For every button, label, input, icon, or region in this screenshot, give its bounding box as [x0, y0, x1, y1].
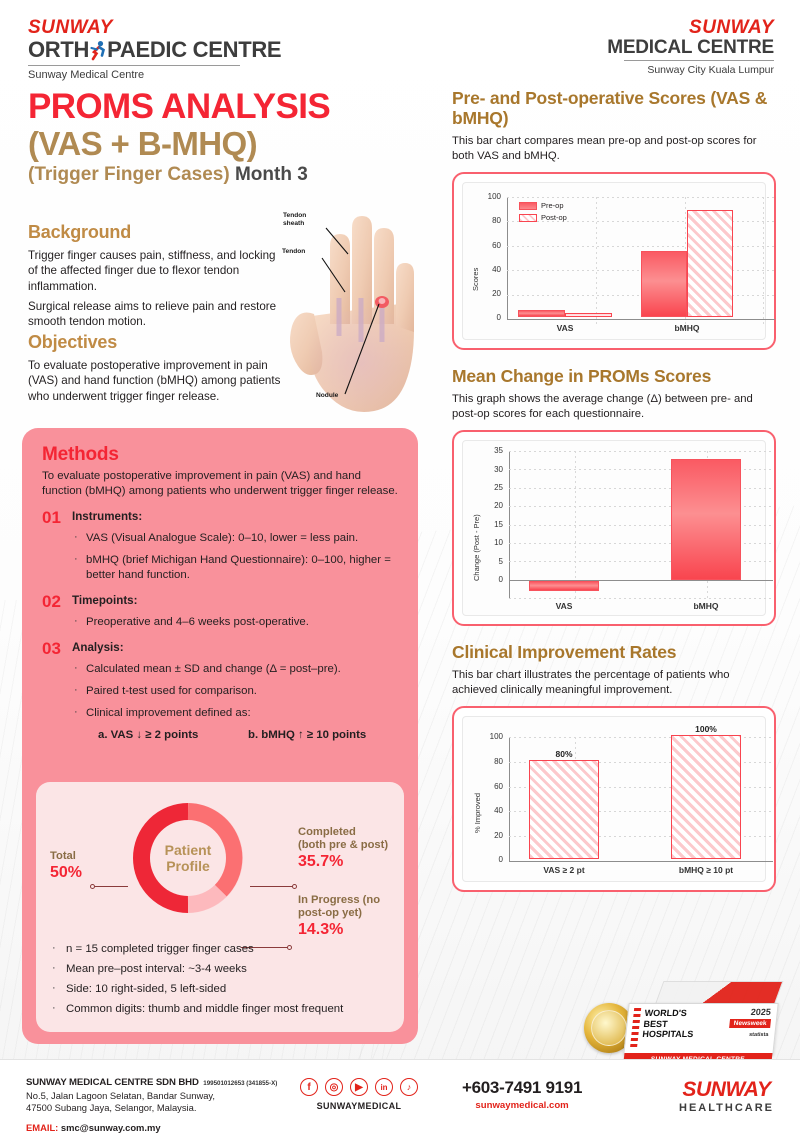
chart3-ytick: 60: [481, 782, 503, 791]
bar-bmhq-preop: [641, 251, 687, 317]
section1-heading: Pre- and Post-operative Scores (VAS & bM…: [452, 88, 776, 128]
title-subject: (Trigger Finger Cases): [28, 164, 230, 185]
chart1-ytick: 60: [479, 241, 501, 250]
chart3-ytick: 100: [481, 732, 503, 741]
chart-mean-change: Change (Post - Pre) 35 30 25: [462, 440, 766, 616]
legend-item-preop: Pre-op: [519, 201, 567, 210]
section2-heading: Mean Change in PROMs Scores: [452, 366, 776, 386]
chart2-ytick: 15: [481, 520, 503, 529]
donut-center-line1: Patient: [165, 842, 212, 858]
sunway-wordmark: SUNWAY: [28, 18, 281, 37]
chart1-ytick: 20: [479, 289, 501, 298]
chart3-x-axis: [509, 861, 773, 862]
methods-heading: Methods: [42, 444, 400, 466]
chart2-ytick: 0: [481, 575, 503, 584]
chart1-ytick: 40: [479, 265, 501, 274]
inprogress-value: 14.3%: [298, 920, 402, 939]
hand-label-tendon: Tendon: [282, 248, 305, 256]
chart2-gridline: [509, 451, 773, 452]
bar-vas-preop: [518, 310, 565, 317]
badge-statista: statista: [749, 1032, 769, 1038]
step-bullet: · VAS (Visual Analogue Scale): 0–10, low…: [72, 531, 400, 546]
bullet-dot-icon: ·: [50, 962, 66, 976]
chart3-ytick: 0: [481, 855, 503, 864]
chart1-vgrid: [596, 197, 597, 325]
section3-description: This bar chart illustrates the percentag…: [452, 668, 776, 697]
running-figure-icon: [88, 39, 108, 61]
bar-label-bmhq: 100%: [671, 724, 741, 734]
bullet-text: Calculated mean ± SD and change (Δ = pos…: [86, 662, 341, 677]
section-mean-change: Mean Change in PROMs Scores This graph s…: [452, 366, 776, 626]
chart1-ytick: 100: [479, 192, 501, 201]
donut-center-label: Patient Profile: [150, 820, 226, 896]
facebook-icon[interactable]: f: [300, 1078, 318, 1096]
donut-label-inprogress: In Progress (nopost-op yet) 14.3%: [298, 894, 402, 939]
list-item: · Mean pre–post interval: ~3-4 weeks: [50, 962, 396, 976]
chart-card-mean-change: Change (Post - Pre) 35 30 25: [452, 430, 776, 626]
donut-label-completed: Completed(both pre & post) 35.7%: [298, 826, 402, 871]
bullet-text: bMHQ (brief Michigan Hand Questionnaire)…: [86, 553, 400, 583]
ortho-text-part1: ORTH: [28, 37, 89, 63]
hand-label-tendon-sheath: Tendonsheath: [283, 212, 306, 228]
donut-label-total: Total 50%: [50, 850, 82, 882]
footer-company-name: SUNWAY MEDICAL CENTRE SDN BHD: [26, 1077, 199, 1088]
ortho-text-part2: PAEDIC CENTRE: [107, 37, 281, 63]
fact-text: Side: 10 right-sided, 5 left-sided: [66, 982, 226, 996]
donut-center-line2: Profile: [166, 858, 210, 874]
chart2-ytick: 20: [481, 501, 503, 510]
bullet-dot-icon: ·: [72, 531, 86, 546]
chart2-vgrid: [575, 451, 576, 601]
objectives-heading: Objectives: [28, 332, 298, 353]
bullet-dot-icon: ·: [50, 1002, 66, 1016]
title-line-2: (VAS + B-MHQ): [28, 126, 330, 162]
badge-red-strip: [630, 1008, 641, 1050]
objectives-section: Objectives To evaluate postoperative imp…: [28, 332, 298, 404]
footer-registration-no: 199501012653 (341855-X): [203, 1080, 277, 1087]
chart-pre-post-scores: Scores 100 80 60 40 20 0: [462, 182, 766, 340]
chart1-x-axis: [507, 319, 775, 320]
chart2-xtick: VAS: [533, 601, 595, 611]
chart1-vgrid: [763, 197, 764, 325]
bullet-dot-icon: ·: [50, 942, 66, 956]
completed-label: Completed(both pre & post): [298, 826, 402, 852]
list-item: · n = 15 completed trigger finger cases: [50, 942, 396, 956]
section-pre-post-scores: Pre- and Post-operative Scores (VAS & bM…: [452, 88, 776, 350]
orthopaedic-centre-logo: SUNWAY ORTH PAEDIC CENTRE Sunway Medical…: [28, 18, 281, 81]
orthopaedic-logo-subtitle: Sunway Medical Centre: [28, 69, 281, 81]
completed-value: 35.7%: [298, 852, 402, 871]
hand-anatomy-illustration: Tendonsheath Tendon Nodule: [282, 196, 432, 421]
chart3-ytick: 20: [481, 831, 503, 840]
chart2-ytick: 35: [481, 446, 503, 455]
chart1-y-axis: [507, 197, 508, 319]
step-number: 03: [42, 641, 72, 741]
fact-text: n = 15 completed trigger finger cases: [66, 942, 254, 956]
chart2-y-axis-title: Change (Post - Pre): [472, 514, 481, 581]
page-title: PROMS ANALYSIS (VAS + B-MHQ) (Trigger Fi…: [28, 88, 330, 188]
title-month: Month 3: [235, 164, 308, 185]
chart1-legend: Pre-op Post-op: [519, 201, 567, 225]
chart3-xtick: bMHQ ≥ 10 pt: [663, 865, 749, 875]
criteria-vas: a. VAS ↓ ≥ 2 points: [98, 729, 248, 741]
step-title: Timepoints:: [72, 594, 400, 608]
bullet-dot-icon: ·: [72, 553, 86, 583]
medical-centre-name: MEDICAL CENTRE: [607, 37, 774, 58]
criteria-bmhq: b. bMHQ ↑ ≥ 10 points: [248, 729, 366, 741]
footer-social-block: f ◎ ▶ in ♪ SUNWAYMEDICAL: [300, 1078, 418, 1111]
inprogress-label: In Progress (nopost-op yet): [298, 894, 402, 920]
chart1-gridline: [507, 197, 775, 198]
social-icon-row: f ◎ ▶ in ♪: [300, 1078, 418, 1096]
footer-email-line[interactable]: EMAIL: smc@sunway.com.my: [26, 1122, 277, 1133]
chart3-y-axis: [509, 737, 510, 861]
chart3-ytick: 80: [481, 757, 503, 766]
leader-line-completed: [250, 886, 294, 887]
chart3-xtick: VAS ≥ 2 pt: [525, 865, 603, 875]
social-handle: SUNWAYMEDICAL: [300, 1101, 418, 1111]
page-footer: SUNWAY MEDICAL CENTRE SDN BHD 1995010126…: [0, 1059, 800, 1131]
section3-heading: Clinical Improvement Rates: [452, 642, 776, 662]
list-item: · Side: 10 right-sided, 5 left-sided: [50, 982, 396, 996]
step-bullet: · Paired t-test used for comparison.: [72, 684, 400, 699]
sunway-healthcare-logo: SUNWAY HEALTHCARE: [679, 1078, 774, 1114]
legend-item-postop: Post-op: [519, 213, 567, 222]
chart3-ytick: 40: [481, 806, 503, 815]
chart2-ytick: 25: [481, 483, 503, 492]
fact-text: Mean pre–post interval: ~3-4 weeks: [66, 962, 247, 976]
awards-badges: WORLD'SBESTHOSPITALS 2025 Newsweek stati…: [584, 981, 784, 1059]
badge-title: WORLD'SBESTHOSPITALS: [642, 1008, 696, 1040]
chart2-ytick: 5: [481, 557, 503, 566]
leader-dot-total: [90, 884, 95, 889]
bullet-dot-icon: ·: [72, 684, 86, 699]
step-bullet: · Clinical improvement defined as:: [72, 706, 400, 721]
background-paragraph-1: Trigger finger causes pain, stiffness, a…: [28, 248, 280, 294]
chart-clinical-improvement: % Improved 100 80 60 40 20 0: [462, 716, 766, 882]
medical-centre-logo: SUNWAY MEDICAL CENTRE Sunway City Kuala …: [607, 18, 774, 76]
total-value: 50%: [50, 863, 82, 882]
footer-phone-number[interactable]: +603-7491 9191: [462, 1078, 582, 1098]
chart2-ytick: 10: [481, 538, 503, 547]
bullet-text: Preoperative and 4–6 weeks post-operativ…: [86, 615, 309, 630]
orthopaedic-centre-name: ORTH PAEDIC CENTRE: [28, 37, 281, 63]
chart1-ytick: 0: [479, 313, 501, 322]
chart2-ytick: 30: [481, 465, 503, 474]
legend-label-postop: Post-op: [541, 213, 567, 222]
footer-contact-block: +603-7491 9191 sunwaymedical.com: [462, 1078, 582, 1111]
chart1-gridline: [507, 246, 775, 247]
linkedin-icon[interactable]: in: [375, 1078, 393, 1096]
bar-label-vas: 80%: [529, 749, 599, 759]
background-heading: Background: [28, 222, 280, 243]
bullet-dot-icon: ·: [72, 662, 86, 677]
footer-company-line: SUNWAY MEDICAL CENTRE SDN BHD 1995010126…: [26, 1072, 277, 1090]
bullet-text: Paired t-test used for comparison.: [86, 684, 257, 699]
bar-improve-vas: [529, 760, 599, 859]
background-paragraph-2: Surgical release aims to relieve pain an…: [28, 299, 280, 330]
chart-card-pre-post: Scores 100 80 60 40 20 0: [452, 172, 776, 350]
footer-email-label: EMAIL:: [26, 1122, 58, 1133]
methods-step-03: 03 Analysis: · Calculated mean ± SD and …: [42, 641, 400, 741]
fact-text: Common digits: thumb and middle finger m…: [66, 1002, 343, 1016]
methods-intro: To evaluate postoperative improvement in…: [42, 469, 400, 499]
footer-email-value[interactable]: smc@sunway.com.my: [61, 1122, 161, 1133]
tiktok-icon[interactable]: ♪: [400, 1078, 418, 1096]
bar-improve-bmhq: [671, 735, 741, 859]
methods-step-01: 01 Instruments: · VAS (Visual Analogue S…: [42, 510, 400, 583]
objectives-paragraph: To evaluate postoperative improvement in…: [28, 358, 298, 404]
legend-swatch-preop: [519, 202, 537, 210]
step-bullet: · Calculated mean ± SD and change (Δ = p…: [72, 662, 400, 677]
bar-vas-postop: [565, 313, 612, 317]
worlds-best-hospitals-badge: WORLD'SBESTHOSPITALS 2025 Newsweek stati…: [623, 1003, 778, 1055]
logo-divider-right: [624, 60, 774, 61]
methods-step-02: 02 Timepoints: · Preoperative and 4–6 we…: [42, 594, 400, 630]
instagram-icon[interactable]: ◎: [325, 1078, 343, 1096]
background-section: Background Trigger finger causes pain, s…: [28, 222, 280, 329]
chart2-xtick: bMHQ: [675, 601, 737, 611]
step-bullet: · Preoperative and 4–6 weeks post-operat…: [72, 615, 400, 630]
bullet-text: VAS (Visual Analogue Scale): 0–10, lower…: [86, 531, 358, 546]
total-label: Total: [50, 850, 82, 863]
patient-profile-panel: Patient Profile Total 50% Completed(both…: [36, 782, 404, 1032]
section2-description: This graph shows the average change (Δ) …: [452, 392, 776, 421]
step-number: 02: [42, 594, 72, 630]
youtube-icon[interactable]: ▶: [350, 1078, 368, 1096]
footer-address-block: SUNWAY MEDICAL CENTRE SDN BHD 1995010126…: [26, 1072, 277, 1133]
bar-change-vas: [529, 581, 599, 591]
chart1-xtick: VAS: [533, 323, 597, 333]
list-item: · Common digits: thumb and middle finger…: [50, 1002, 396, 1016]
step-title: Analysis:: [72, 641, 400, 655]
footer-website-link[interactable]: sunwaymedical.com: [462, 1100, 582, 1111]
chart1-ytick: 80: [479, 216, 501, 225]
bullet-dot-icon: ·: [50, 982, 66, 996]
bullet-text: Clinical improvement defined as:: [86, 706, 251, 721]
title-line-3: (Trigger Finger Cases) Month 3: [28, 162, 330, 188]
leader-dot-completed: [292, 884, 297, 889]
title-line-1: PROMS ANALYSIS: [28, 88, 330, 126]
step-title: Instruments:: [72, 510, 400, 524]
bullet-dot-icon: ·: [72, 615, 86, 630]
sunway-wordmark-right: SUNWAY: [607, 18, 774, 37]
leader-line-total: [94, 886, 128, 887]
step-bullet: · bMHQ (brief Michigan Hand Questionnair…: [72, 553, 400, 583]
patient-facts-list: · n = 15 completed trigger finger cases …: [50, 942, 396, 1022]
section-clinical-improvement: Clinical Improvement Rates This bar char…: [452, 642, 776, 892]
bullet-dot-icon: ·: [72, 706, 86, 721]
poster-canvas: SUNWAY ORTH PAEDIC CENTRE Sunway Medical…: [0, 0, 800, 1131]
chart1-xtick: bMHQ: [655, 323, 719, 333]
footer-address-2: 47500 Subang Jaya, Selangor, Malaysia.: [26, 1102, 277, 1114]
medal-inner: [591, 1010, 627, 1046]
hand-label-nodule: Nodule: [316, 392, 338, 400]
footer-address-1: No.5, Jalan Lagoon Selatan, Bandar Sunwa…: [26, 1090, 277, 1102]
step-number: 01: [42, 510, 72, 583]
badge-newsweek: Newsweek: [729, 1019, 771, 1028]
badge-year: 2025: [750, 1007, 771, 1017]
logo-divider: [28, 65, 240, 66]
chart-card-clinical: % Improved 100 80 60 40 20 0: [452, 706, 776, 892]
legend-swatch-postop: [519, 214, 537, 222]
bar-bmhq-postop: [687, 210, 733, 317]
section1-description: This bar chart compares mean pre-op and …: [452, 134, 776, 163]
bar-change-bmhq: [671, 459, 741, 580]
improvement-criteria: a. VAS ↓ ≥ 2 points b. bMHQ ↑ ≥ 10 point…: [72, 729, 400, 741]
healthcare-brand-word: HEALTHCARE: [679, 1102, 774, 1114]
chart2-gridline: [509, 598, 773, 599]
legend-label-preop: Pre-op: [541, 201, 564, 210]
right-column: Pre- and Post-operative Scores (VAS & bM…: [452, 88, 776, 892]
medical-logo-subtitle: Sunway City Kuala Lumpur: [607, 64, 774, 76]
healthcare-brand-sunway: SUNWAY: [679, 1078, 774, 1102]
patient-profile-donut-chart: Patient Profile: [124, 794, 252, 922]
